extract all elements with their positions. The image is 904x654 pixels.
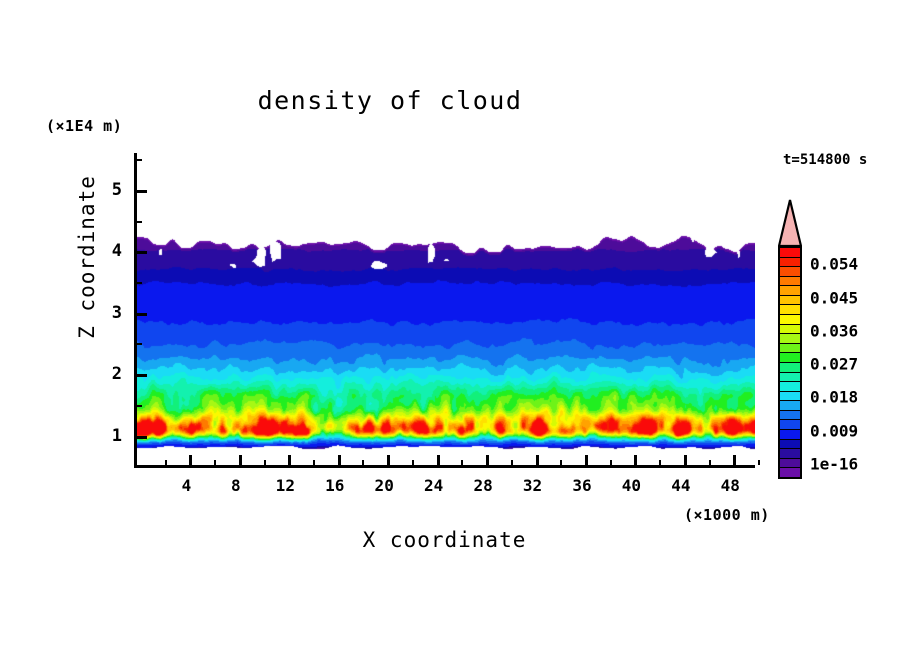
x-tick-minor [610,460,612,465]
x-tick-label: 16 [325,476,344,495]
x-tick-minor [709,460,711,465]
colorbar-band [780,334,800,344]
colorbar: 0.0540.0450.0360.0270.0180.0091e-16 [778,199,802,479]
y-tick-minor [137,343,142,345]
x-tick-major [239,455,242,465]
x-tick-major [733,455,736,465]
y-tick-label: 5 [96,180,122,200]
y-tick-label: 4 [96,241,122,261]
y-axis-unit-label: (×1E4 m) [46,117,122,135]
x-axis-unit-label: (×1000 m) [684,506,770,524]
x-tick-major [684,455,687,465]
colorbar-band [780,382,800,392]
colorbar-tick-label: 0.018 [810,388,858,407]
x-tick-minor [165,460,167,465]
colorbar-band [780,392,800,402]
x-tick-minor [511,460,513,465]
colorbar-tick-label: 0.045 [810,288,858,307]
colorbar-band [780,277,800,287]
colorbar-tick-label: 0.054 [810,255,858,274]
x-tick-label: 32 [523,476,542,495]
colorbar-band [780,305,800,315]
y-tick-major [137,251,147,254]
x-tick-major [634,455,637,465]
y-tick-label: 3 [96,303,122,323]
y-tick-minor [137,159,142,161]
x-tick-major [338,455,341,465]
x-tick-minor [560,460,562,465]
x-tick-minor [412,460,414,465]
x-tick-label: 44 [671,476,690,495]
colorbar-band [780,296,800,306]
figure-root: density of cloud (×1E4 m) (×1000 m) t=51… [0,0,904,654]
x-axis-title: X coordinate [134,528,755,552]
colorbar-band [780,267,800,277]
y-tick-minor [137,221,142,223]
colorbar-band [780,440,800,450]
colorbar-bands [778,246,802,479]
x-tick-major [437,455,440,465]
colorbar-band [780,315,800,325]
x-tick-major [536,455,539,465]
chart-title: density of cloud [0,86,780,115]
x-tick-major [486,455,489,465]
x-tick-minor [362,460,364,465]
colorbar-band [780,459,800,469]
x-tick-label: 20 [375,476,394,495]
colorbar-band [780,248,800,258]
x-tick-label: 12 [276,476,295,495]
time-annotation: t=514800 s [783,152,867,168]
y-tick-label: 2 [96,364,122,384]
x-tick-major [387,455,390,465]
x-tick-label: 4 [182,476,192,495]
y-tick-major [137,313,147,316]
y-axis-title: Z coordinate [75,157,99,357]
colorbar-band [780,411,800,421]
y-tick-label: 1 [96,426,122,446]
colorbar-band [780,344,800,354]
plot-area [134,153,755,468]
x-tick-major [585,455,588,465]
x-tick-label: 8 [231,476,241,495]
x-tick-label: 28 [473,476,492,495]
colorbar-tick-label: 0.027 [810,355,858,374]
x-tick-minor [461,460,463,465]
colorbar-band [780,286,800,296]
colorbar-band [780,353,800,363]
colorbar-band [780,258,800,268]
x-tick-minor [264,460,266,465]
colorbar-tick-label: 0.009 [810,421,858,440]
colorbar-arrow-cap [778,199,802,247]
x-tick-label: 36 [572,476,591,495]
colorbar-band [780,420,800,430]
x-tick-major [288,455,291,465]
colorbar-band [780,430,800,440]
y-tick-major [137,374,147,377]
y-tick-major [137,436,147,439]
x-tick-minor [214,460,216,465]
y-tick-minor [137,282,142,284]
x-tick-minor [659,460,661,465]
colorbar-tick-label: 0.036 [810,321,858,340]
colorbar-band [780,373,800,383]
colorbar-band [780,363,800,373]
colorbar-band [780,468,800,477]
x-tick-major [189,455,192,465]
y-tick-minor [137,405,142,407]
contour-field-canvas [137,153,755,465]
y-tick-major [137,190,147,193]
colorbar-tick-label: 1e-16 [810,455,858,474]
x-tick-label: 48 [721,476,740,495]
colorbar-band [780,449,800,459]
colorbar-band [780,325,800,335]
x-tick-label: 40 [622,476,641,495]
x-tick-minor [758,460,760,465]
x-tick-minor [313,460,315,465]
colorbar-band [780,401,800,411]
x-tick-label: 24 [424,476,443,495]
